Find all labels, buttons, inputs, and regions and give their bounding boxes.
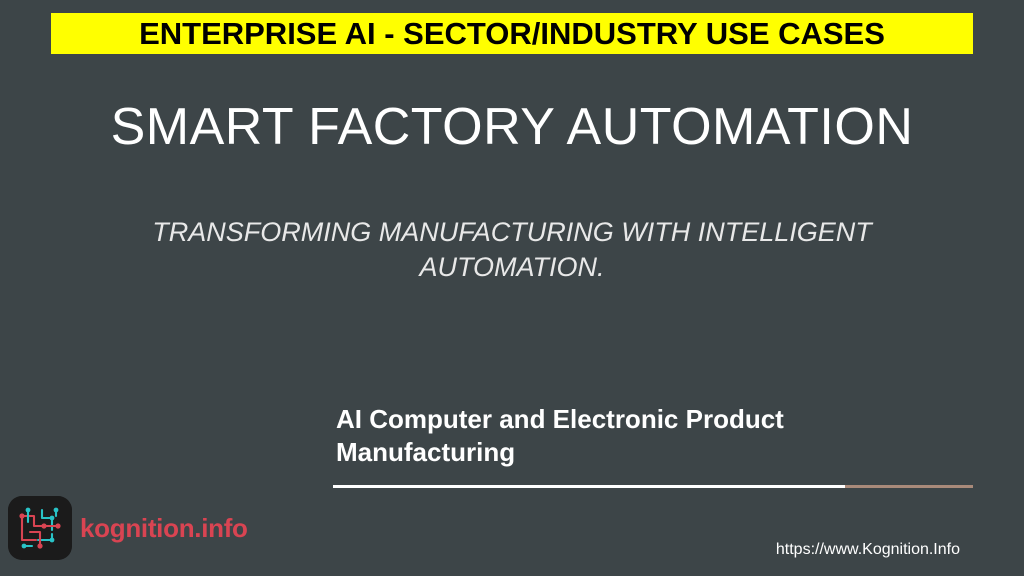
divider-segment-left	[333, 485, 845, 488]
circuit-chip-logo-icon	[8, 496, 72, 560]
footer-url: https://www.Kognition.Info	[640, 541, 960, 559]
slide-canvas: ENTERPRISE AI - SECTOR/INDUSTRY USE CASE…	[0, 0, 1024, 576]
banner-text: ENTERPRISE AI - SECTOR/INDUSTRY USE CASE…	[139, 18, 885, 49]
page-subtitle: TRANSFORMING MANUFACTURING WITH INTELLIG…	[62, 215, 962, 284]
brand-logo: kognition.info	[8, 492, 248, 564]
divider-segment-right	[845, 485, 973, 488]
divider	[333, 485, 973, 488]
section-heading: AI Computer and Electronic Product Manuf…	[336, 403, 956, 468]
page-title: SMART FACTORY AUTOMATION	[0, 99, 1024, 156]
brand-logo-text: kognition.info	[80, 513, 248, 544]
section-banner: ENTERPRISE AI - SECTOR/INDUSTRY USE CASE…	[51, 13, 973, 54]
